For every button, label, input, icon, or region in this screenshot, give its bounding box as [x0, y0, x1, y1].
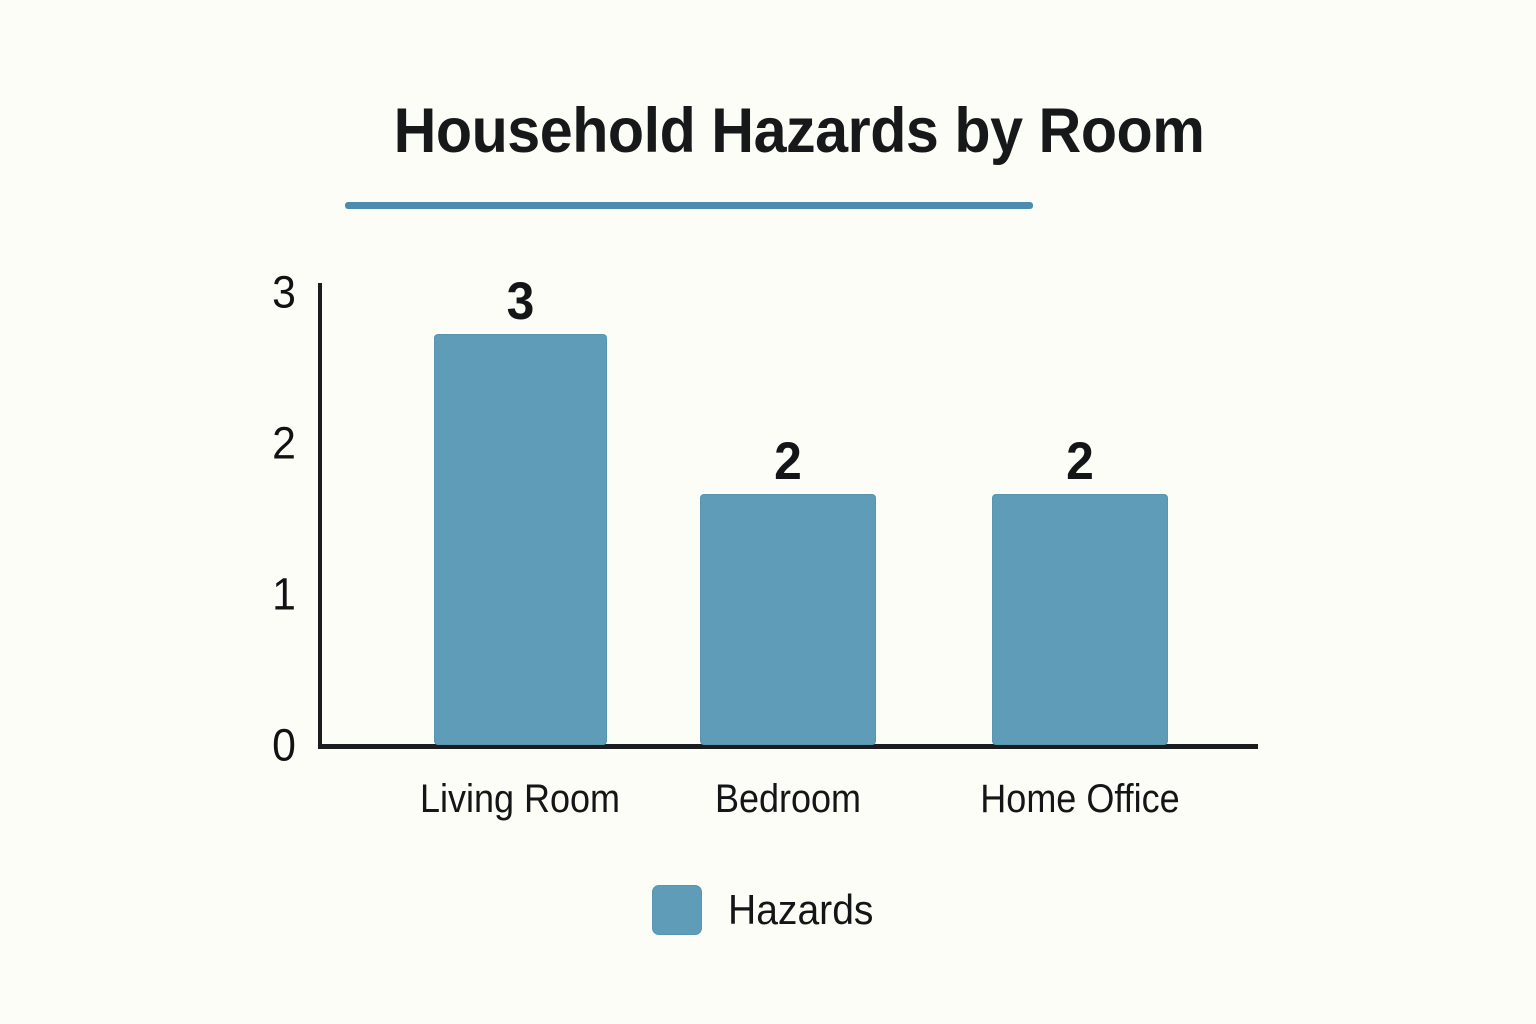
y-tick-label-2: 2	[263, 421, 305, 466]
y-axis-line	[318, 283, 322, 747]
x-tick-label-living-room: Living Room	[385, 779, 655, 819]
chart-title: Household Hazards by Room	[368, 98, 1229, 164]
title-underline-rule	[345, 202, 1033, 209]
x-tick-label-home-office: Home Office	[945, 779, 1215, 819]
bar-value-home-office: 2	[997, 435, 1162, 488]
y-axis-tick-labels: 0 1 2 3	[258, 0, 306, 1024]
bar-living-room[interactable]	[434, 334, 607, 745]
legend-label-hazards[interactable]: Hazards	[728, 889, 873, 931]
bar-value-bedroom: 2	[705, 435, 870, 488]
y-tick-label-1: 1	[263, 572, 305, 617]
y-tick-label-0: 0	[263, 723, 305, 768]
legend-swatch-hazards[interactable]	[652, 885, 702, 935]
bar-value-living-room: 3	[439, 275, 602, 328]
bar-home-office[interactable]	[992, 494, 1168, 745]
chart-figure: Household Hazards by Room 0 1 2 3 3 2 2 …	[0, 0, 1536, 1024]
chart-legend: Hazards	[0, 885, 1536, 935]
bar-bedroom[interactable]	[700, 494, 876, 745]
x-tick-label-bedroom: Bedroom	[653, 779, 923, 819]
y-tick-label-3: 3	[263, 270, 305, 315]
